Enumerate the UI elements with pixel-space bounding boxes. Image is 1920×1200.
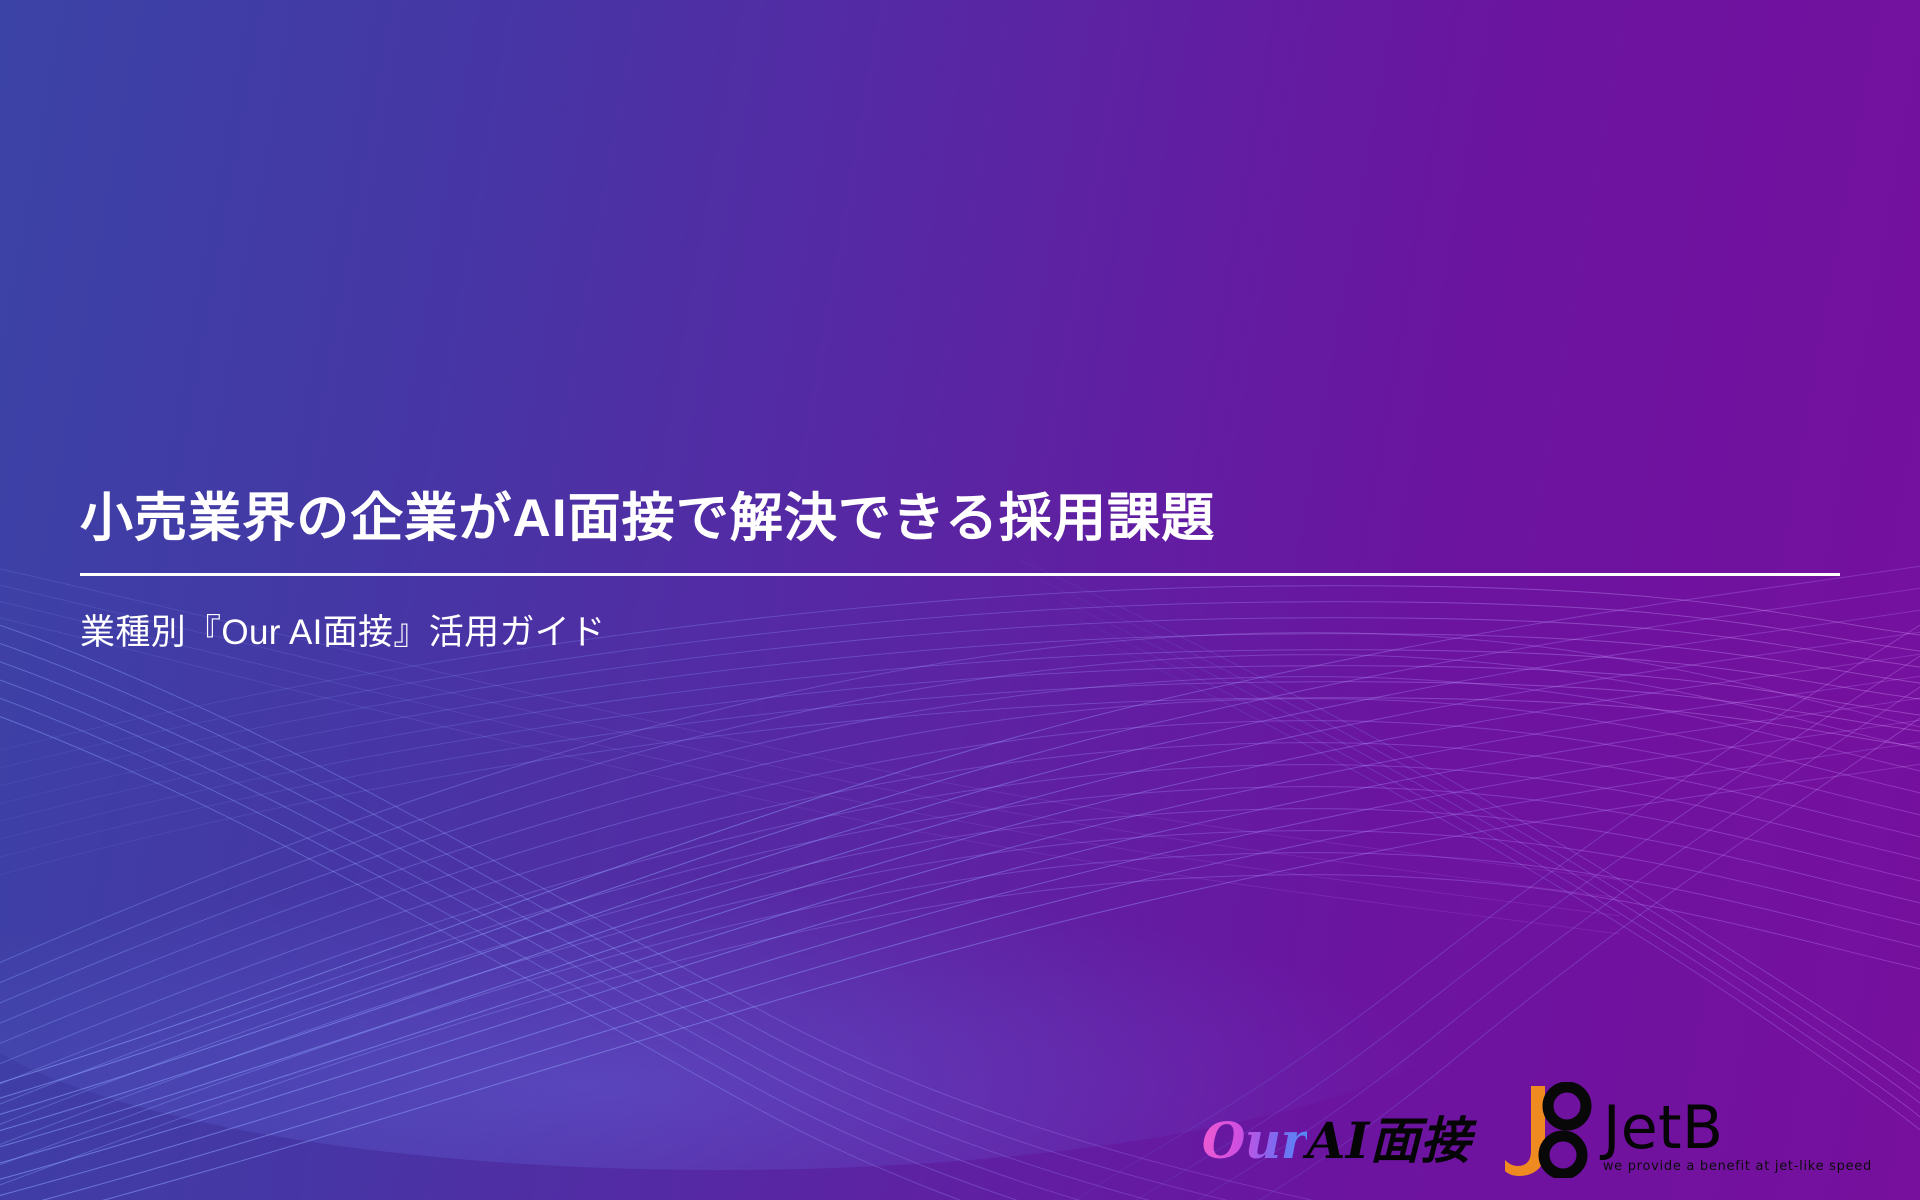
page-subtitle: 業種別『Our AI面接』活用ガイド: [80, 576, 1840, 656]
our-ai-interview-logo: Our AI 面接: [1202, 1116, 1471, 1178]
jetb-logo: JetB we provide a benefit at jet-like sp…: [1501, 1082, 1872, 1178]
our-ai-logo-our-text: Our: [1202, 1116, 1307, 1166]
slide-canvas: 小売業界の企業がAI面接で解決できる採用課題 業種別『Our AI面接』活用ガイ…: [0, 0, 1920, 1200]
page-title: 小売業界の企業がAI面接で解決できる採用課題: [80, 488, 1840, 551]
jetb-wordmark: JetB: [1603, 1100, 1724, 1157]
logo-bar: Our AI 面接 JetB we provide a benefit at j…: [1202, 1082, 1872, 1178]
title-block: 小売業界の企業がAI面接で解決できる採用課題 業種別『Our AI面接』活用ガイ…: [80, 488, 1840, 655]
our-ai-logo-ai-text: AI: [1307, 1116, 1370, 1166]
jetb-text-group: JetB we provide a benefit at jet-like sp…: [1603, 1100, 1872, 1178]
jetb-j-mark-icon: [1501, 1082, 1593, 1178]
our-ai-logo-mensetsu-text: 面接: [1370, 1116, 1471, 1166]
jetb-tagline: we provide a benefit at jet-like speed: [1603, 1159, 1872, 1174]
